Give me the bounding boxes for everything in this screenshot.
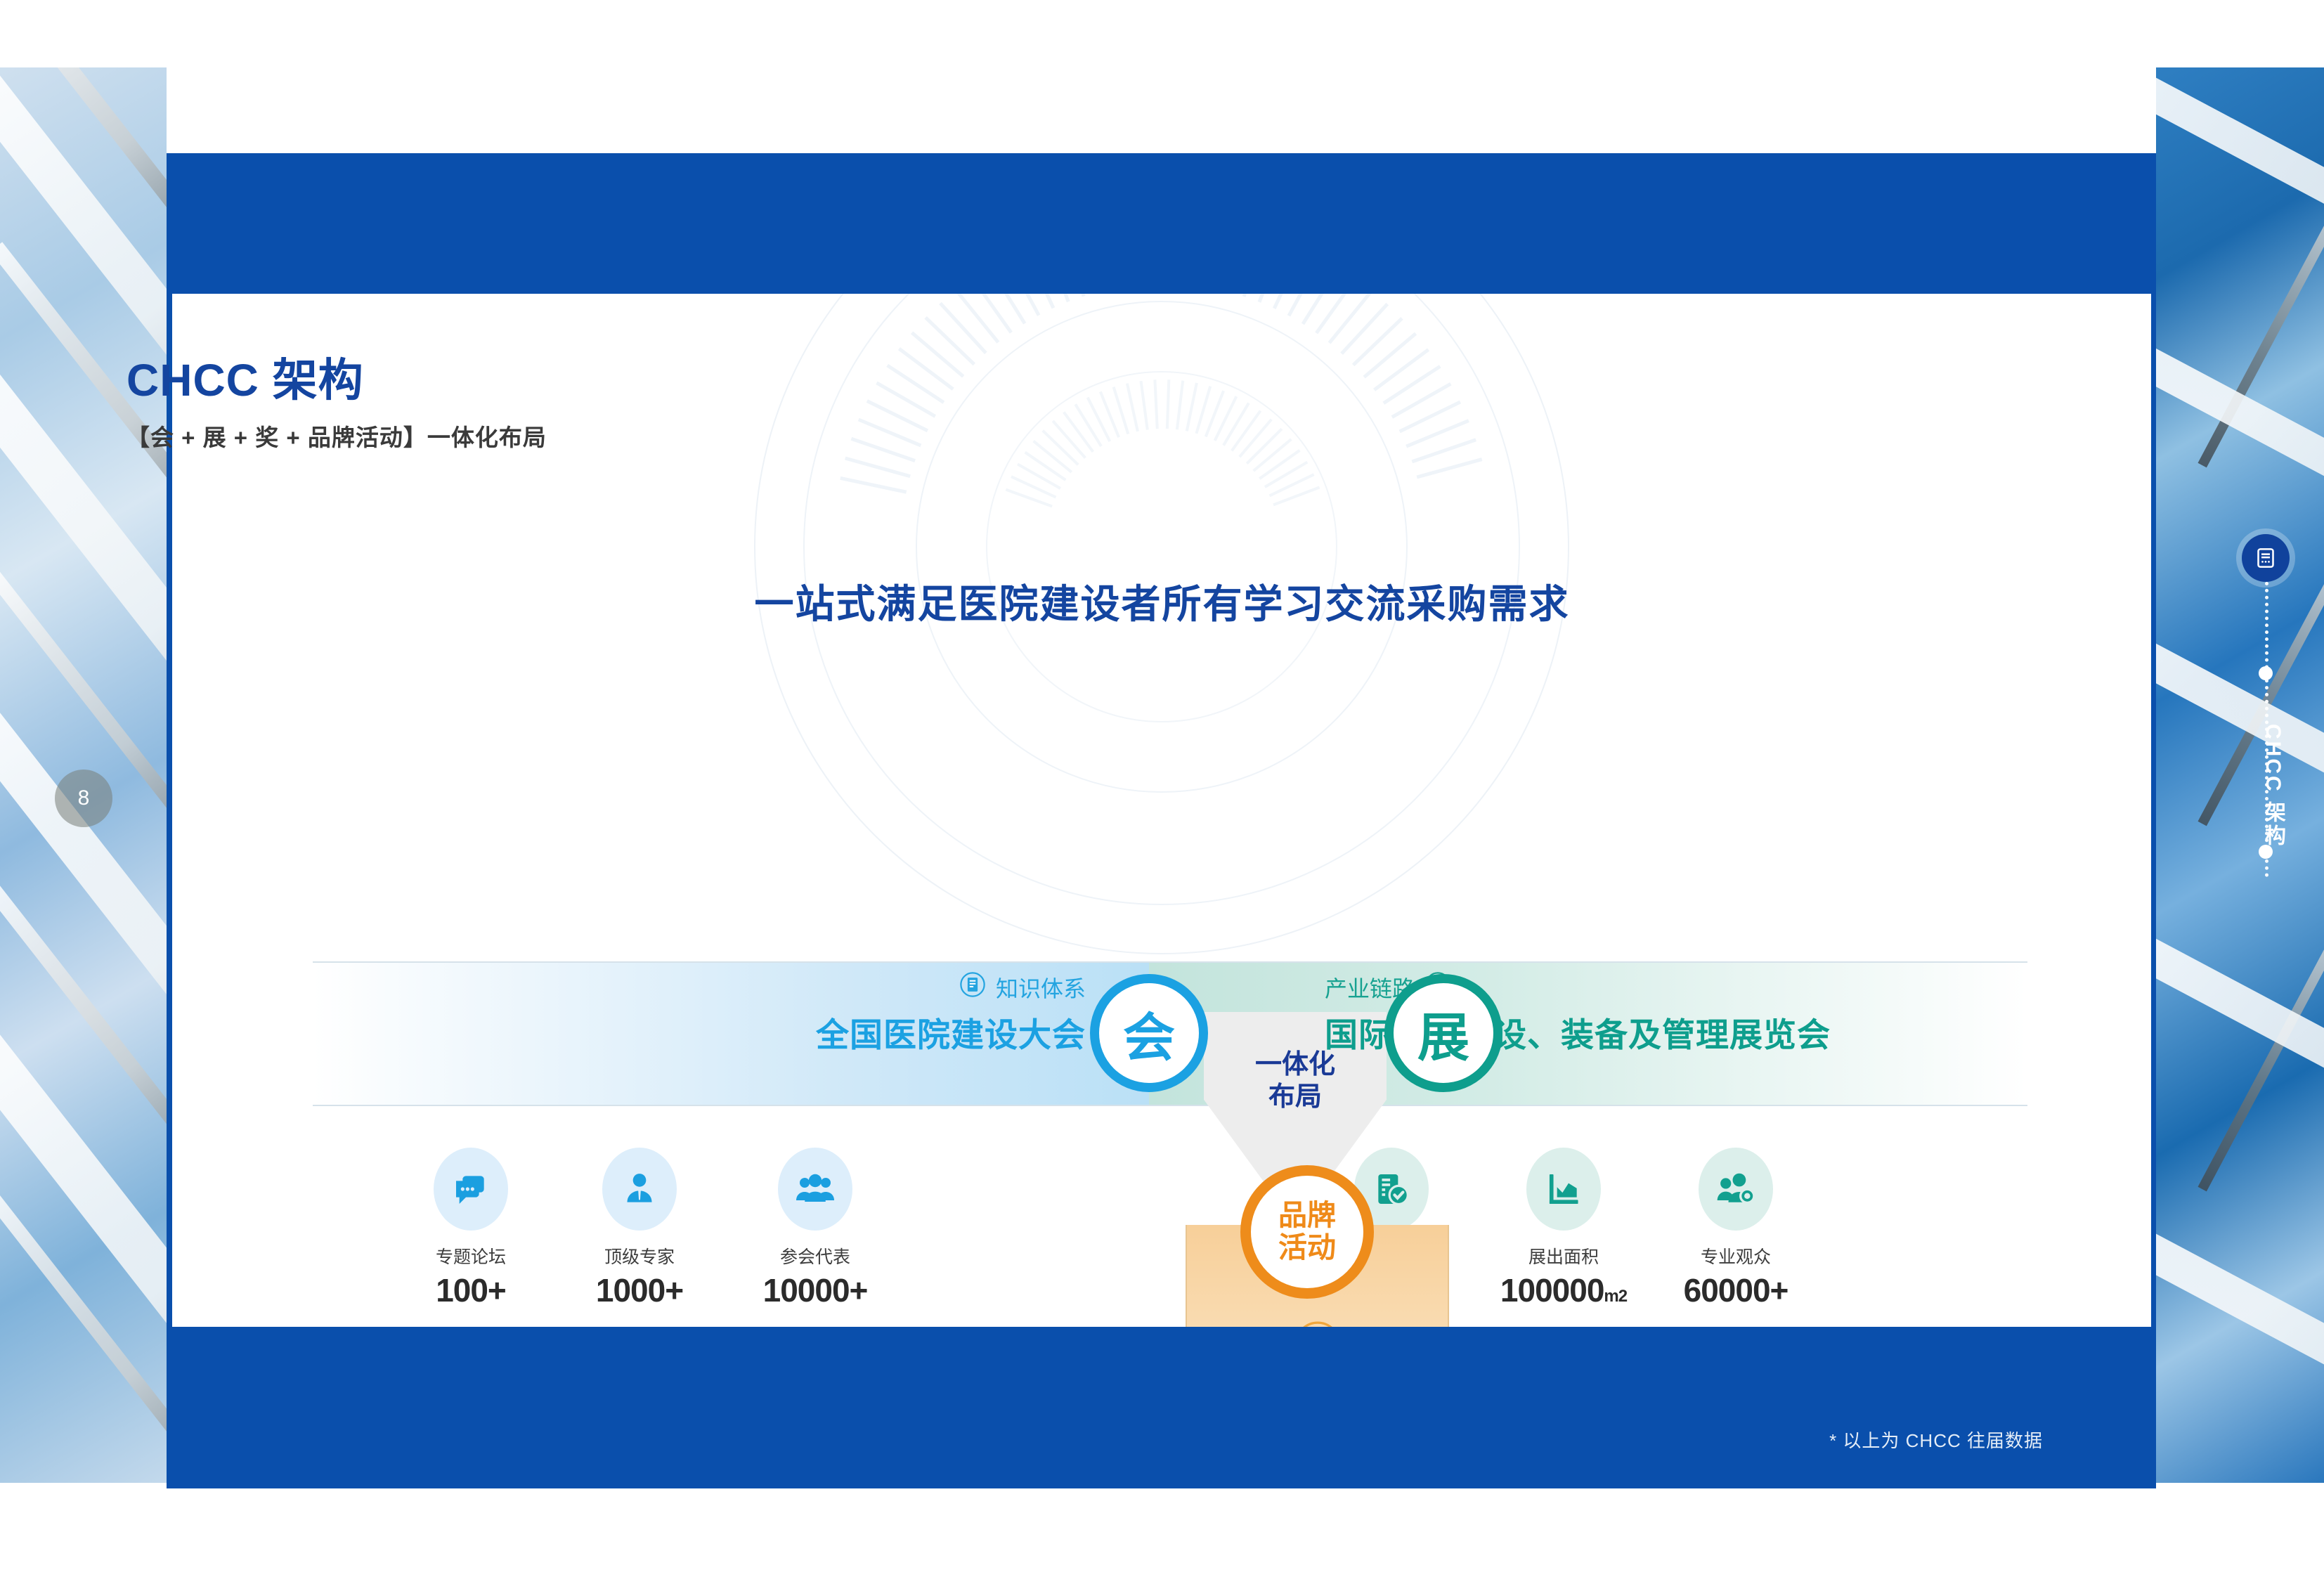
area-icon [1526, 1148, 1601, 1231]
stat-label: 专业观众 [1648, 1243, 1824, 1268]
conference-tag: 知识体系 [996, 971, 1086, 1004]
stat-item: 专题论坛 100+ [383, 1148, 559, 1309]
ring-tick [1011, 475, 1056, 498]
ring-tick [1086, 397, 1111, 442]
ring-tick [1176, 380, 1184, 429]
ring-tick [954, 294, 999, 344]
ring-tick [1042, 294, 1070, 302]
ring-tick [1273, 294, 1304, 309]
ring-tick [1099, 391, 1120, 438]
ring-tick [911, 331, 964, 377]
ring-tick [1412, 438, 1476, 463]
right-photo-strip [2156, 67, 2324, 1483]
footnote: * 以上为 CHCC 往届数据 [0, 1427, 2043, 1453]
ring-tick [1195, 386, 1212, 434]
stat-item: 顶级专家 1000+ [552, 1148, 727, 1309]
ring-tick [1112, 387, 1130, 434]
stat-number: 100000 [1500, 1272, 1604, 1309]
funnel-line-2: 布局 [1204, 1082, 1387, 1113]
ring-tick [987, 294, 1026, 325]
ring-tick [1075, 403, 1103, 447]
brand-activity-body: 标杆引领 CHCC中国医院建设奖 医院考察 行业活动 [1186, 1320, 1449, 1327]
ring-tick [1238, 418, 1272, 457]
ring-tick [1406, 419, 1469, 448]
doc-icon [2242, 534, 2290, 582]
ring-tick [886, 364, 944, 404]
expert-icon [602, 1148, 677, 1231]
stat-item: 参会代表 10000+ [727, 1148, 903, 1309]
exhibition-mark-circle: 展 [1384, 974, 1502, 1092]
ring-tick [845, 457, 911, 479]
ring-tick [1287, 294, 1323, 317]
ring-tick [1222, 403, 1249, 446]
ring-tick [1024, 451, 1066, 481]
ring-tick [1340, 303, 1389, 355]
ring-tick [1352, 317, 1403, 366]
ring-tick [924, 316, 975, 365]
stat-unit: m2 [1604, 1287, 1627, 1306]
stat-value: 1000+ [552, 1271, 727, 1309]
ring-tick [1205, 390, 1225, 437]
brand-circle-line-2: 活动 [1278, 1232, 1336, 1264]
signpost-icon [1186, 1320, 1449, 1327]
ring-tick [1126, 383, 1139, 431]
ring-tick [1017, 463, 1061, 490]
stat-label: 专题论坛 [383, 1243, 559, 1268]
ring-tick [1246, 428, 1283, 465]
ring-tick [851, 437, 916, 462]
ring-tick [1052, 420, 1086, 459]
slide-root: 知识体系 全国医院建设大会 产业链路 [0, 0, 2324, 1577]
ring-tick [1186, 382, 1198, 431]
page-number: 8 [55, 770, 112, 827]
band-bottom-rule [313, 1105, 2027, 1106]
book-icon [959, 971, 986, 1004]
stat-label: 展出面积 [1476, 1243, 1651, 1268]
stat-value: 100+ [383, 1271, 559, 1309]
ring-tick [1006, 488, 1053, 508]
ring-tick [971, 294, 1013, 334]
page-headline: 一站式满足医院建设者所有学习交流采购需求 [0, 573, 2324, 630]
ring-tick [1363, 332, 1417, 379]
stat-label: 顶级专家 [552, 1243, 727, 1268]
ring-tick [1062, 294, 1086, 297]
ring-tick [1273, 486, 1320, 507]
ring-tick [1242, 294, 1266, 297]
ring-tick [1231, 410, 1261, 451]
ring-tick [1258, 294, 1286, 303]
ring-tick [1063, 411, 1094, 453]
ring-tick [840, 476, 907, 494]
ring-tick [1023, 294, 1055, 309]
stat-value: 100000m2 [1476, 1271, 1651, 1309]
rail-vertical-label: CHCC 架构 [2246, 724, 2288, 848]
rail-dot [2259, 666, 2273, 680]
page-title: CHCC 架构 [126, 344, 364, 409]
ring-tick [858, 418, 922, 448]
ring-tick [1315, 294, 1357, 334]
visitor-icon [1699, 1148, 1773, 1231]
ring-tick [1153, 379, 1158, 429]
ring-tick [1259, 449, 1301, 480]
stat-label: 参会代表 [727, 1243, 903, 1268]
ring-tick [1391, 382, 1452, 419]
ring-tick [898, 347, 954, 391]
ring-tick [1166, 379, 1170, 429]
conference-name: 全国医院建设大会 [481, 1008, 1086, 1056]
stat-item: 专业观众 60000+ [1648, 1148, 1824, 1309]
ring-tick [1399, 401, 1461, 434]
stat-item: 展出面积 100000m2 [1476, 1148, 1651, 1309]
ring-tick [876, 382, 936, 418]
conference-block: 知识体系 全国医院建设大会 [481, 971, 1086, 1056]
brand-circle-line-1: 品牌 [1278, 1200, 1336, 1232]
ring-tick [1140, 381, 1149, 430]
stat-value: 60000+ [1648, 1271, 1824, 1309]
brand-activity-circle: 品牌 活动 [1240, 1165, 1374, 1299]
ring-tick [939, 302, 987, 354]
ring-tick [1328, 294, 1373, 344]
ring-tick [1252, 438, 1292, 472]
ring-tick [1301, 294, 1340, 325]
ring-tick [1416, 457, 1482, 479]
conference-mark-circle: 会 [1090, 974, 1208, 1092]
people-icon [778, 1148, 852, 1231]
ring-tick [1041, 429, 1079, 466]
ring-tick [1214, 396, 1238, 441]
ring-tick [1269, 473, 1315, 497]
ring-tick [1264, 461, 1308, 488]
ring-tick [1373, 348, 1429, 391]
page-subtitle: 【会 + 展 + 奖 + 品牌活动】一体化布局 [126, 419, 547, 453]
ring-tick [866, 399, 928, 432]
ring-tick [1382, 365, 1441, 405]
ring-tick [1032, 440, 1072, 473]
stat-value: 10000+ [727, 1271, 903, 1309]
forum-icon [434, 1148, 508, 1231]
ring-tick [1005, 294, 1040, 316]
